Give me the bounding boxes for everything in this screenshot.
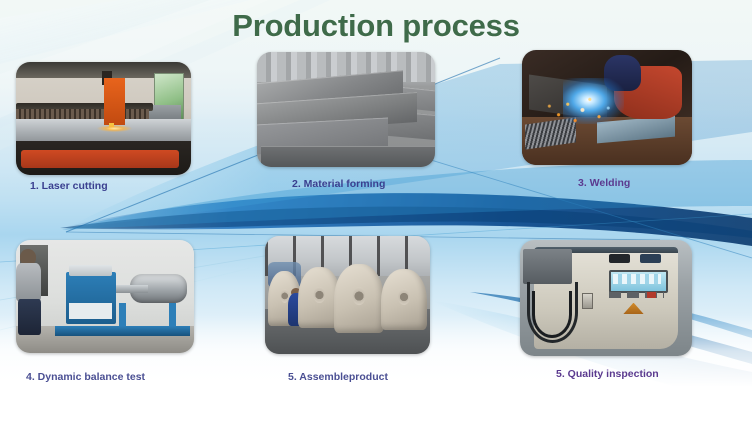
step-photo-5	[265, 236, 430, 354]
photo-detail	[609, 292, 664, 298]
photo-detail	[69, 303, 112, 319]
dynamic-balance-photo	[16, 240, 194, 353]
photo-detail	[55, 326, 190, 336]
step-caption-3: 3. Welding	[578, 177, 630, 189]
photo-detail	[647, 292, 656, 298]
photo-detail	[381, 269, 427, 330]
photo-detail	[523, 249, 571, 284]
photo-detail	[261, 146, 435, 167]
step-photo-4	[16, 240, 194, 353]
photo-detail	[609, 254, 630, 263]
step-photo-3	[522, 50, 692, 165]
step-caption-5: 5. Assembleproduct	[288, 371, 388, 383]
photo-detail	[104, 78, 125, 125]
quality-inspection-photo	[520, 240, 692, 356]
photo-detail	[542, 85, 634, 133]
production-process-slide: Production process 1. Laser cutting	[0, 0, 752, 435]
material-forming-photo	[257, 52, 435, 167]
photo-detail	[334, 264, 384, 332]
photo-detail	[116, 285, 148, 293]
laser-cutting-photo	[16, 62, 191, 175]
page-title: Production process	[0, 8, 752, 44]
welding-photo	[522, 50, 692, 165]
step-photo-6	[520, 240, 692, 356]
photo-detail	[21, 150, 179, 168]
photo-detail	[97, 125, 132, 132]
photo-detail	[69, 265, 112, 276]
step-caption-2: 2. Material forming	[292, 178, 385, 190]
step-caption-1: 1. Laser cutting	[30, 180, 108, 192]
assembly-photo	[265, 236, 430, 354]
photo-detail	[640, 254, 661, 263]
photo-detail	[169, 303, 176, 328]
step-photo-2	[257, 52, 435, 167]
step-caption-4: 4. Dynamic balance test	[26, 371, 145, 383]
step-caption-6: 5. Quality inspection	[556, 368, 659, 380]
photo-detail	[119, 303, 126, 328]
photo-detail	[18, 299, 41, 335]
photo-detail	[613, 274, 661, 284]
step-photo-1	[16, 62, 191, 175]
photo-detail	[16, 263, 41, 301]
photo-detail	[582, 293, 593, 309]
